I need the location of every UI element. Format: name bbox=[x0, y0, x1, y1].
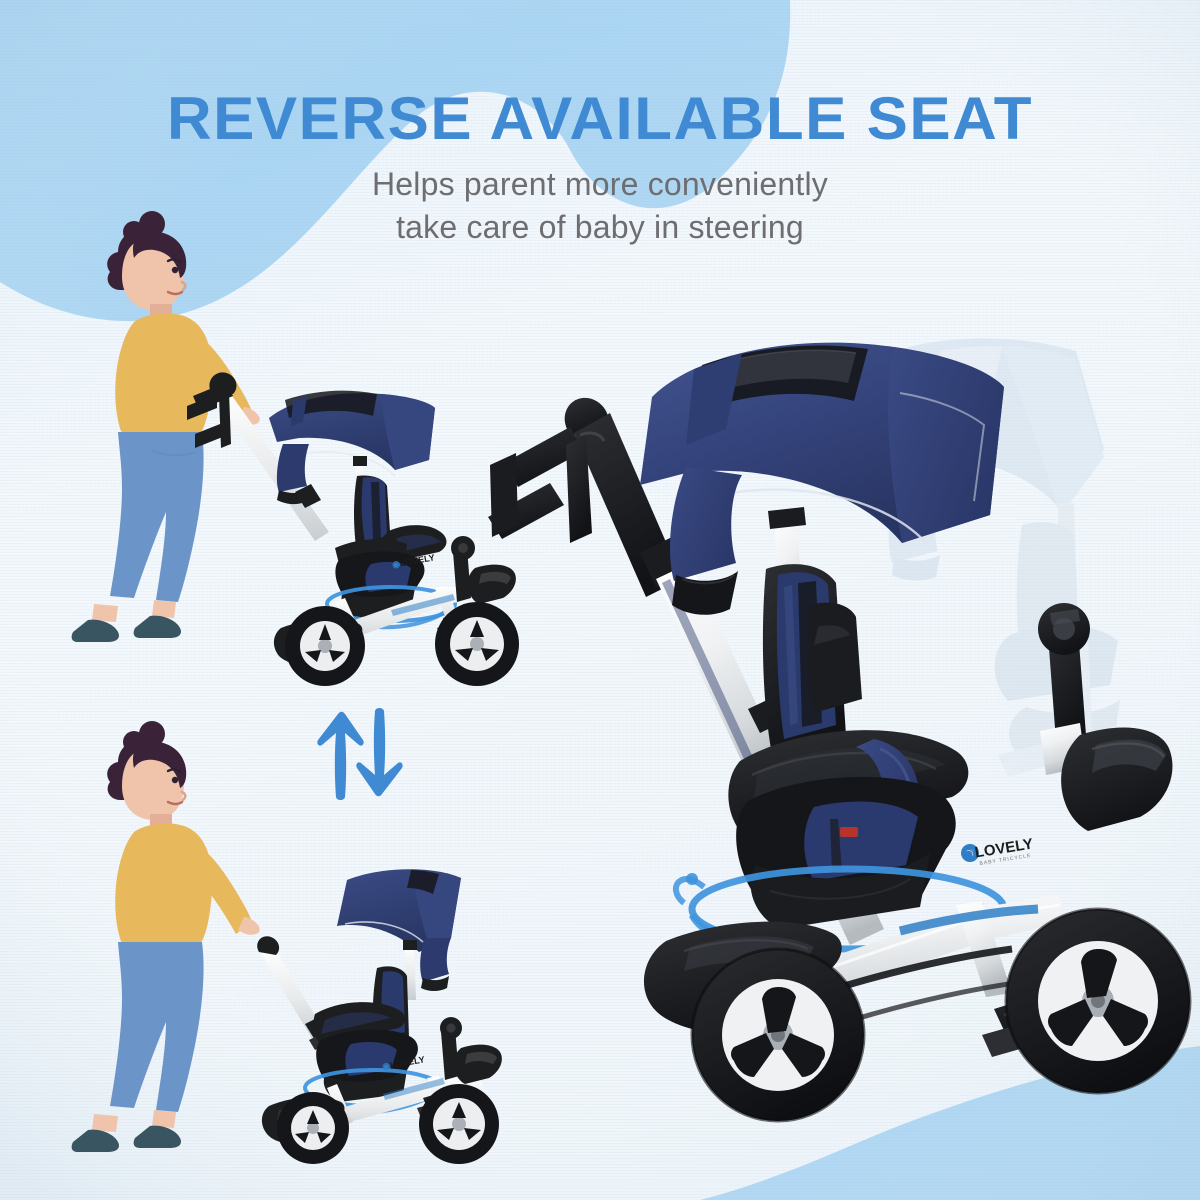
arrow-down-icon bbox=[356, 708, 402, 796]
subtitle-line-2: take care of baby in steering bbox=[0, 206, 1200, 249]
seat-reverse-arrows bbox=[310, 705, 420, 805]
subtitle-line-1: Helps parent more conveniently bbox=[0, 163, 1200, 206]
hero-tricycle-product bbox=[470, 335, 1200, 1125]
page-subtitle: Helps parent more conveniently take care… bbox=[0, 163, 1200, 248]
product-feature-banner: REVERSE AVAILABLE SEAT Helps parent more… bbox=[0, 0, 1200, 1200]
inset-tricycle-rear-facing bbox=[185, 352, 525, 672]
page-title: REVERSE AVAILABLE SEAT bbox=[0, 88, 1200, 149]
parent-illustration-bottom bbox=[42, 710, 262, 1180]
arrow-up-icon bbox=[317, 712, 363, 800]
canopy-flap bbox=[670, 467, 742, 581]
inset-tricycle-forward-facing bbox=[255, 862, 555, 1162]
headline-block: REVERSE AVAILABLE SEAT Helps parent more… bbox=[0, 88, 1200, 248]
